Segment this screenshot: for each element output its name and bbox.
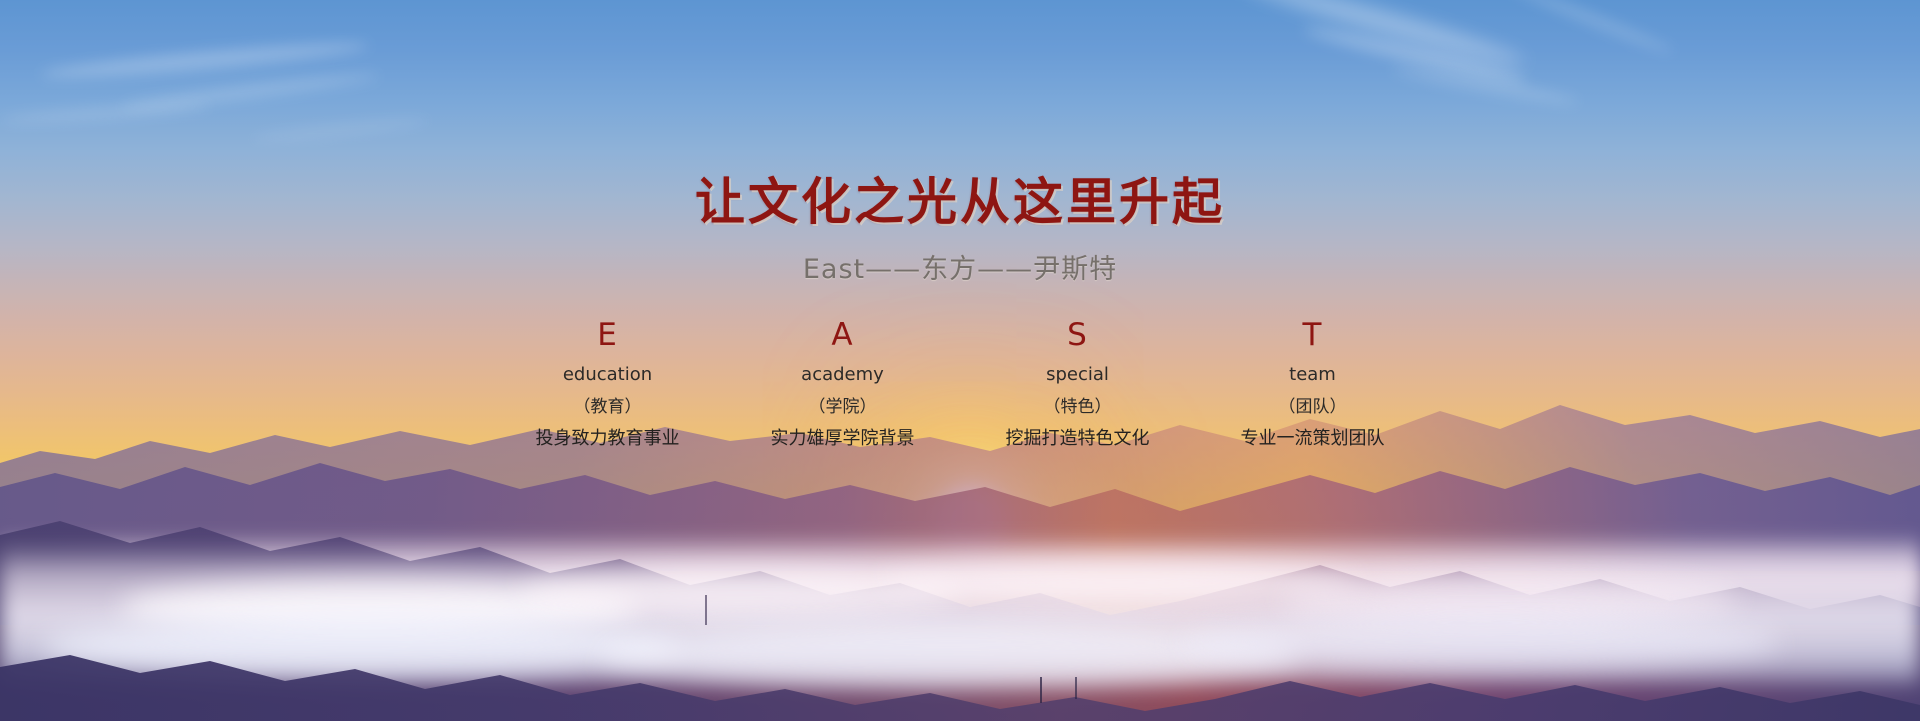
pillar-english-label: team — [1195, 366, 1430, 384]
pillar-letter: T — [1195, 320, 1430, 351]
pillar-description: 专业一流策划团队 — [1195, 430, 1430, 448]
pillar-english-label: special — [960, 366, 1195, 384]
pillar-chinese-label: （教育） — [490, 399, 725, 416]
hero-banner: 让文化之光从这里升起 East——东方——尹斯特 E education （教育… — [0, 0, 1920, 721]
pillar-chinese-label: （团队） — [1195, 399, 1430, 416]
pylon-silhouette — [705, 595, 707, 625]
pylon-silhouette — [1075, 677, 1077, 699]
page-title: 让文化之光从这里升起 — [0, 0, 1920, 229]
pillar-chinese-label: （学院） — [725, 399, 960, 416]
pillar-description: 实力雄厚学院背景 — [725, 430, 960, 448]
pylon-silhouette — [1040, 677, 1042, 703]
east-pillars-row: E education （教育） 投身致力教育事业 A academy （学院）… — [490, 320, 1430, 448]
pillar-chinese-label: （特色） — [960, 399, 1195, 416]
pillar-special[interactable]: S special （特色） 挖掘打造特色文化 — [960, 320, 1195, 448]
pillar-english-label: education — [490, 366, 725, 384]
pillar-letter: A — [725, 320, 960, 351]
page-subtitle: East——东方——尹斯特 — [0, 229, 1920, 286]
pillar-description: 挖掘打造特色文化 — [960, 430, 1195, 448]
pillar-education[interactable]: E education （教育） 投身致力教育事业 — [490, 320, 725, 448]
pillar-academy[interactable]: A academy （学院） 实力雄厚学院背景 — [725, 320, 960, 448]
banner-content: 让文化之光从这里升起 East——东方——尹斯特 — [0, 0, 1920, 286]
pillar-team[interactable]: T team （团队） 专业一流策划团队 — [1195, 320, 1430, 448]
pillar-letter: S — [960, 320, 1195, 351]
pillar-letter: E — [490, 320, 725, 351]
sun-disc — [951, 501, 993, 543]
pillar-english-label: academy — [725, 366, 960, 384]
pillar-description: 投身致力教育事业 — [490, 430, 725, 448]
